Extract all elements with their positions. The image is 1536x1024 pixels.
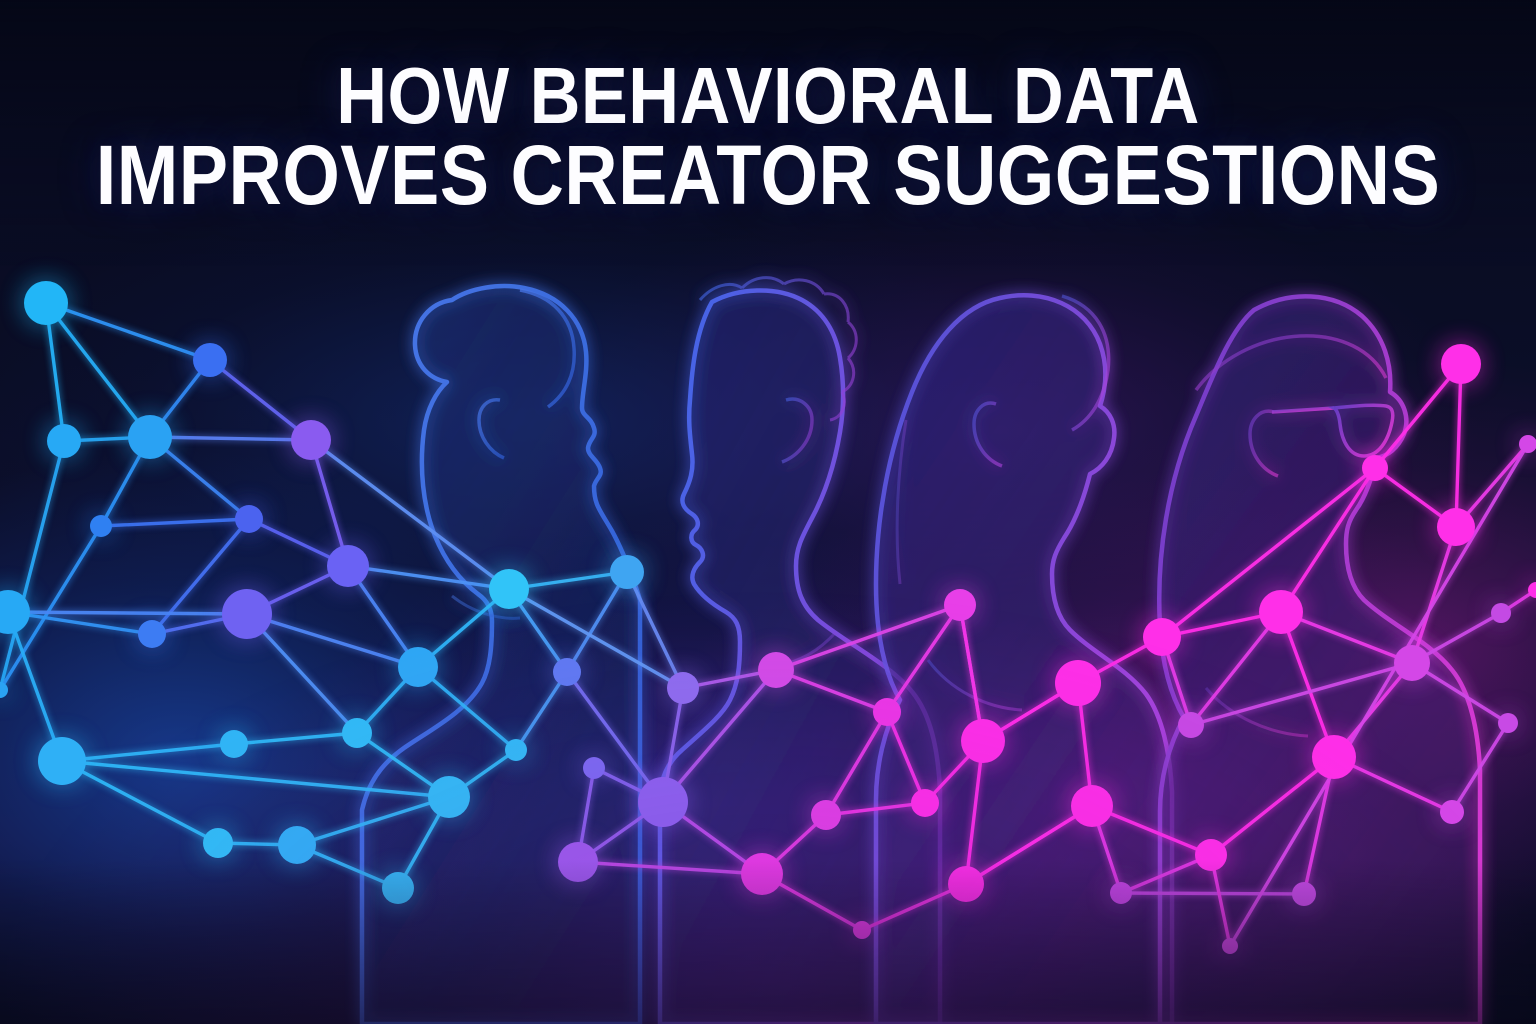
network-node (1071, 785, 1113, 827)
network-node (1498, 713, 1518, 733)
network-edge (578, 862, 762, 874)
network-node (193, 343, 227, 377)
network-edge (1121, 893, 1304, 894)
network-edge (8, 612, 247, 614)
network-node (1143, 618, 1181, 656)
network-node (1491, 603, 1511, 623)
network-node (1362, 455, 1388, 481)
network-node (90, 515, 112, 537)
network-node (203, 828, 233, 858)
network-edge (62, 744, 234, 761)
network-node (1222, 938, 1238, 954)
network-node (1440, 800, 1464, 824)
network-node (382, 872, 414, 904)
network-node (128, 415, 172, 459)
network-node (638, 777, 688, 827)
network-node (583, 757, 605, 779)
network-nodes (0, 281, 1536, 954)
network-node (1437, 508, 1475, 546)
network-node (222, 589, 272, 639)
network-edge (234, 733, 357, 744)
network-edge (1281, 468, 1375, 612)
network-node (291, 420, 331, 460)
network-node (873, 698, 901, 726)
network-node (853, 921, 871, 939)
network-edge (0, 441, 64, 690)
network-graph (0, 0, 1536, 1024)
network-node (1394, 645, 1430, 681)
network-node (278, 826, 316, 864)
network-node (47, 424, 81, 458)
network-edge (1375, 364, 1461, 468)
network-node (610, 555, 644, 589)
network-node (220, 730, 248, 758)
network-node (505, 739, 527, 761)
network-node (1312, 735, 1356, 779)
network-node (398, 647, 438, 687)
network-edge (1230, 444, 1528, 946)
network-node (428, 776, 470, 818)
network-edge (567, 572, 627, 672)
network-node (1441, 344, 1481, 384)
network-node (667, 672, 699, 704)
network-node (327, 545, 369, 587)
network-edge (826, 712, 887, 815)
network-node (944, 589, 976, 621)
network-node (758, 652, 794, 688)
network-node (138, 620, 166, 648)
network-node (911, 789, 939, 817)
network-node (741, 853, 783, 895)
network-node (1178, 712, 1204, 738)
network-node (1110, 882, 1132, 904)
network-node (1259, 590, 1303, 634)
network-node (558, 842, 598, 882)
network-node (1055, 660, 1101, 706)
network-node (24, 281, 68, 325)
network-edge (887, 712, 925, 803)
network-node (38, 737, 86, 785)
network-node (489, 569, 529, 609)
network-node (811, 800, 841, 830)
network-edge (966, 806, 1092, 884)
network-node (1292, 882, 1316, 906)
banner-canvas: HOW BEHAVIORAL DATA IMPROVES CREATOR SUG… (0, 0, 1536, 1024)
network-node (553, 658, 581, 686)
network-node (1195, 839, 1227, 871)
network-node (235, 505, 263, 533)
network-edge (776, 605, 960, 670)
network-node (948, 866, 984, 902)
network-node (342, 718, 372, 748)
network-edge (1452, 723, 1508, 812)
network-node (961, 719, 1005, 763)
